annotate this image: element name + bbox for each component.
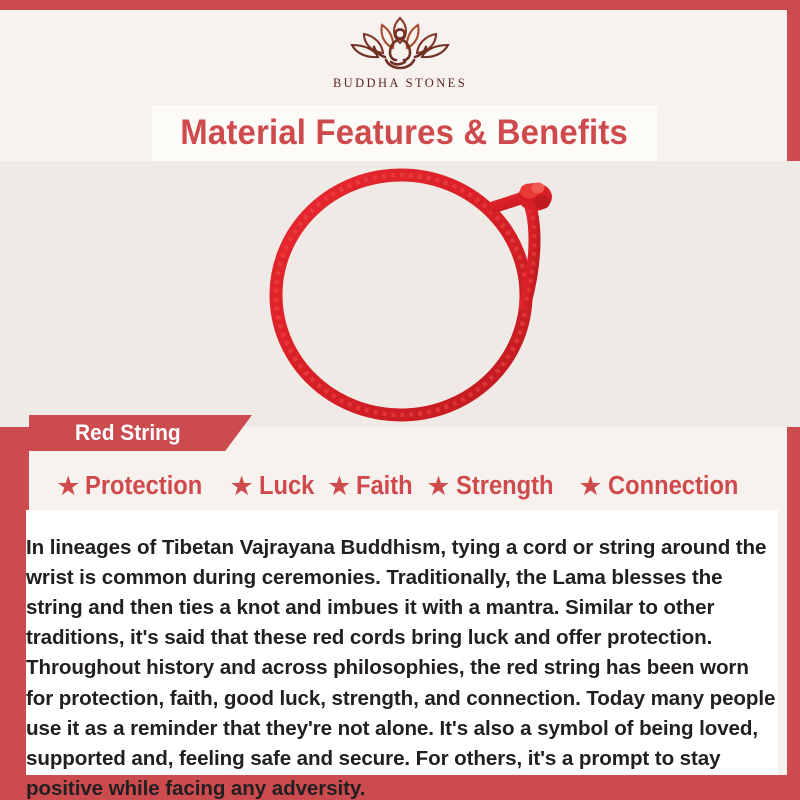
product-label: Red String (75, 420, 181, 446)
star-icon: ★ (578, 473, 602, 500)
product-label-banner: Red String (29, 415, 252, 451)
benefit-label: Luck (259, 472, 314, 501)
star-icon: ★ (56, 473, 80, 500)
benefit-label: Faith (356, 472, 413, 501)
star-icon: ★ (426, 473, 450, 500)
benefit-label: Protection (85, 472, 202, 501)
benefit-label: Strength (456, 472, 553, 501)
brand-logo: BUDDHA STONES (0, 12, 800, 100)
benefit-faith: ★ Faith (327, 472, 417, 501)
benefit-strength: ★ Strength (426, 472, 560, 501)
benefits-row: ★ Protection ★ Luck ★ Faith ★ Strength ★… (26, 466, 778, 506)
benefit-luck: ★ Luck (229, 472, 318, 501)
description-card: In lineages of Tibetan Vajrayana Buddhis… (26, 510, 778, 775)
benefit-label: Connection (608, 472, 738, 501)
top-red-border (0, 0, 800, 10)
benefit-connection: ★ Connection (578, 472, 747, 501)
page-title: Material Features & Benefits (181, 113, 629, 153)
page-title-band: Material Features & Benefits (152, 105, 657, 161)
description-paragraph: In lineages of Tibetan Vajrayana Buddhis… (26, 533, 776, 800)
brand-name: BUDDHA STONES (333, 76, 467, 91)
infographic-page: BUDDHA STONES Material Features & Benefi… (0, 0, 800, 800)
red-string-bracelet-image (246, 161, 576, 427)
lotus-meditation-figure-icon (330, 12, 470, 74)
star-icon: ★ (327, 473, 351, 500)
star-icon: ★ (229, 473, 253, 500)
product-photo-panel (0, 161, 800, 427)
benefit-protection: ★ Protection (56, 472, 211, 501)
